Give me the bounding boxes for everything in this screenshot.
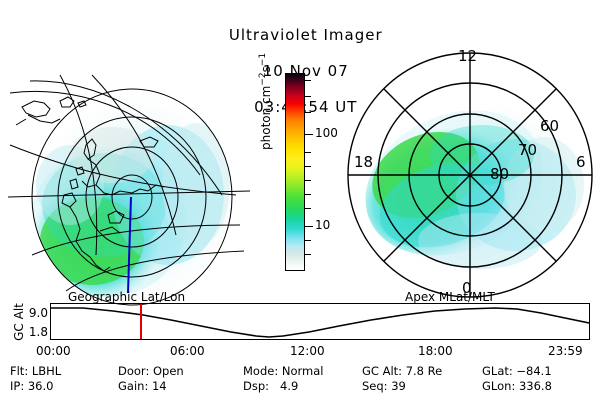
colorbar-axis-exponent-1: −2 bbox=[258, 72, 268, 85]
status-label: IP: bbox=[10, 379, 24, 393]
colorbar-minor-tick bbox=[305, 180, 311, 181]
colorbar-minor-tick bbox=[305, 112, 311, 113]
status-value: 14 bbox=[152, 379, 167, 393]
colorbar-axis-label: photon cm−2s−1 bbox=[258, 30, 273, 150]
status-label: GLon: bbox=[482, 379, 515, 393]
status-row: Flt: LBHL Door: Open Mode: Normal GC Alt… bbox=[0, 364, 600, 379]
orbit-title-apex: Apex MLat/MLT bbox=[405, 290, 495, 304]
status-label: Seq: bbox=[362, 379, 388, 393]
status-gc-alt: GC Alt: 7.8 Re bbox=[362, 364, 442, 379]
colorbar-minor-tick bbox=[305, 254, 311, 255]
status-flight-mode: Flt: LBHL bbox=[10, 364, 61, 379]
status-value: Normal bbox=[282, 364, 324, 378]
colorbar-tick-100 bbox=[305, 134, 313, 135]
status-door: Door: Open bbox=[118, 364, 184, 379]
colorbar-tick-label-10: 10 bbox=[315, 220, 330, 230]
mlat-label-80: 80 bbox=[490, 165, 509, 183]
status-value: 336.8 bbox=[519, 379, 552, 393]
status-dsp: Dsp: 4.9 bbox=[243, 379, 298, 394]
status-label: Door: bbox=[118, 364, 149, 378]
mlat-label-60: 60 bbox=[540, 117, 559, 135]
colorbar-minor-tick bbox=[305, 166, 311, 167]
colorbar-minor-tick bbox=[305, 152, 311, 153]
apex-polar-plot: 12 18 6 0 60 70 80 bbox=[330, 45, 600, 293]
status-value: 36.0 bbox=[28, 379, 54, 393]
status-value: 39 bbox=[391, 379, 406, 393]
time-tick-0000: 00:00 bbox=[36, 344, 71, 358]
status-label: Mode: bbox=[243, 364, 278, 378]
colorbar-minor-tick bbox=[305, 80, 311, 81]
status-ip: IP: 36.0 bbox=[10, 379, 53, 394]
mlt-label-18: 18 bbox=[354, 153, 373, 171]
colorbar-axis-exponent-2: −1 bbox=[258, 53, 268, 66]
status-value: Open bbox=[153, 364, 184, 378]
status-value: −84.1 bbox=[516, 364, 551, 378]
apex-grid bbox=[348, 53, 592, 297]
colorbar-minor-tick bbox=[305, 194, 311, 195]
mlt-label-6: 6 bbox=[576, 153, 586, 171]
colorbar-axis-label-text: photon cm bbox=[259, 86, 273, 150]
mlat-label-70: 70 bbox=[518, 141, 537, 159]
status-glon: GLon: 336.8 bbox=[482, 379, 552, 394]
geographic-polar-plot bbox=[0, 45, 256, 293]
status-glat: GLat: −84.1 bbox=[482, 364, 552, 379]
status-label: Dsp: bbox=[243, 379, 269, 393]
status-mode: Mode: Normal bbox=[243, 364, 323, 379]
status-value: LBHL bbox=[32, 364, 61, 378]
colorbar-minor-tick bbox=[305, 96, 311, 97]
colorbar-tick-10 bbox=[305, 226, 313, 227]
instrument-name: Ultraviolet Imager bbox=[229, 26, 383, 44]
status-label: Gain: bbox=[118, 379, 148, 393]
status-value: 4.9 bbox=[273, 379, 299, 393]
time-tick-0600: 06:00 bbox=[170, 344, 205, 358]
time-tick-1800: 18:00 bbox=[418, 344, 453, 358]
status-value: 7.8 Re bbox=[406, 364, 443, 378]
mlt-label-12: 12 bbox=[458, 47, 477, 65]
time-tick-1200: 12:00 bbox=[290, 344, 325, 358]
orbit-altitude-trace bbox=[51, 304, 589, 339]
status-label: Flt: bbox=[10, 364, 28, 378]
colorbar-minor-tick bbox=[305, 208, 311, 209]
status-row: IP: 36.0 Gain: 14 Dsp: 4.9 Seq: 39 GLon:… bbox=[0, 379, 600, 394]
status-label: GC Alt: bbox=[362, 364, 402, 378]
colorbar-axis-label-mid: s bbox=[259, 66, 273, 72]
colorbar-gradient bbox=[285, 73, 305, 271]
colorbar-minor-tick bbox=[305, 240, 311, 241]
status-gain: Gain: 14 bbox=[118, 379, 167, 394]
status-label: GLat: bbox=[482, 364, 513, 378]
status-seq: Seq: 39 bbox=[362, 379, 406, 394]
status-block: Flt: LBHL Door: Open Mode: Normal GC Alt… bbox=[0, 364, 600, 394]
orbit-current-time-marker bbox=[140, 304, 142, 339]
gc-alt-axis-label: GC Alt bbox=[12, 292, 26, 352]
time-tick-2359: 23:59 bbox=[548, 344, 583, 358]
orbit-title-geographic: Geographic Lat/Lon bbox=[68, 290, 185, 304]
